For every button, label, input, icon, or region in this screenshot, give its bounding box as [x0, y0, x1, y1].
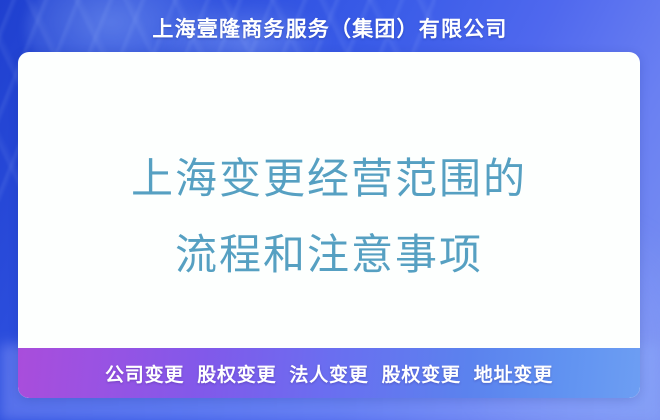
tag-company-change[interactable]: 公司变更: [105, 360, 184, 387]
tag-address-change[interactable]: 地址变更: [474, 360, 553, 387]
card-body: 上海变更经营范围的 流程和注意事项: [18, 52, 640, 348]
service-tag-bar: 公司变更 股权变更 法人变更 股权变更 地址变更: [18, 348, 640, 398]
company-header: 上海壹隆商务服务（集团）有限公司: [0, 12, 660, 44]
tag-legal-person-change[interactable]: 法人变更: [289, 360, 368, 387]
tag-equity-change-1[interactable]: 股权变更: [197, 360, 276, 387]
tag-equity-change-2[interactable]: 股权变更: [382, 360, 461, 387]
main-title-line-2: 流程和注意事项: [175, 217, 483, 293]
content-card: 上海变更经营范围的 流程和注意事项 公司变更 股权变更 法人变更 股权变更 地址…: [18, 52, 640, 398]
company-name-title: 上海壹隆商务服务（集团）有限公司: [152, 13, 507, 43]
poster-canvas: 上海壹隆商务服务（集团）有限公司 上海变更经营范围的 流程和注意事项 公司变更 …: [0, 0, 660, 420]
main-title-line-1: 上海变更经营范围的: [131, 141, 527, 217]
